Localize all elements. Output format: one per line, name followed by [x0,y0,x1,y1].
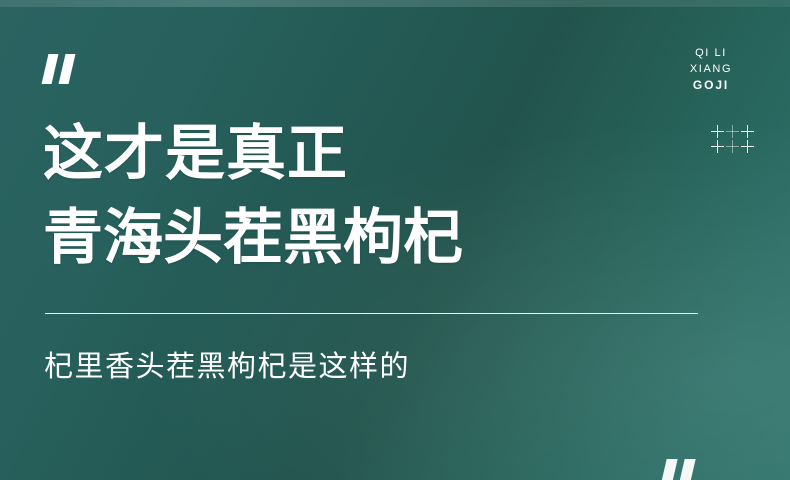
top-edge-highlight [0,0,790,7]
plus-grid-icon [710,124,755,154]
plus-icon [710,139,725,154]
brand-line-2: XIANG [674,61,748,77]
quote-stroke-left [42,54,59,84]
brand-line-3: GOJI [674,77,748,93]
plus-icon [740,139,755,154]
brand-line-1: QI LI [674,45,748,61]
plus-icon [710,124,725,139]
promo-banner: 这才是真正 青海头茬黑枸杞 杞里香头茬黑枸杞是这样的 QI LI XIANG G… [0,0,790,480]
plus-icon [725,139,740,154]
opening-quote-icon [45,54,72,84]
headline-line-2: 青海头茬黑枸杞 [43,196,463,280]
subtitle-text: 杞里香头茬黑枸杞是这样的 [44,347,410,387]
plus-icon [725,124,740,139]
plus-icon [740,124,755,139]
headline-line-1: 这才是真正 [43,112,463,196]
horizontal-divider [45,313,698,314]
quote-stroke-right [59,54,76,84]
quote-stroke-right [677,459,695,480]
closing-quote-icon [663,459,692,480]
brand-logo: QI LI XIANG GOJI [674,45,748,93]
page-title: 这才是真正 青海头茬黑枸杞 [43,112,463,280]
quote-stroke-left [659,459,677,480]
